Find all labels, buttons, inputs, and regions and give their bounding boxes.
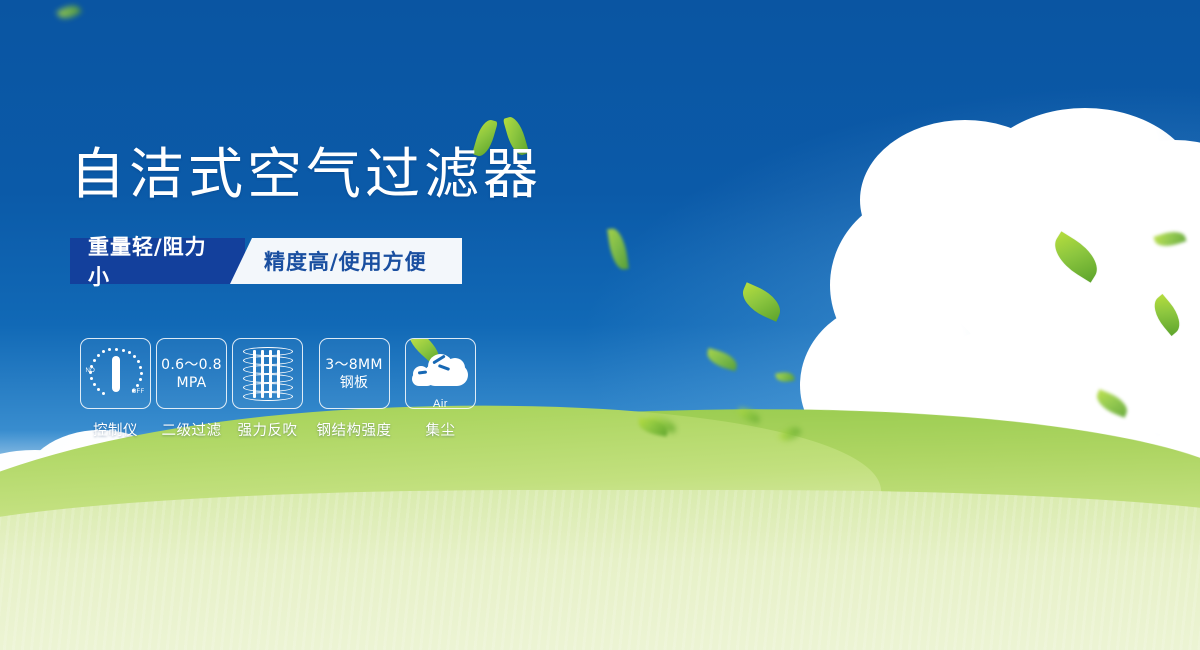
steel-thickness-text-icon: 3～8MM 钢板: [319, 338, 390, 409]
feature-item-steel[interactable]: 3～8MM 钢板 钢结构强度: [306, 338, 402, 440]
feature-item-dust[interactable]: Air 集尘: [403, 338, 478, 440]
subtitle-right-text: 精度高/使用方便: [264, 246, 427, 276]
dial-label-no: NO: [86, 368, 96, 374]
page-title: 自洁式空气过滤器: [70, 143, 542, 205]
filter-stack-icon: [232, 338, 303, 409]
steel-plate-word: 钢板: [325, 374, 382, 392]
grass-field-near: [0, 490, 1200, 650]
feature-item-blowback[interactable]: 强力反吹: [230, 338, 305, 440]
subtitle-right-badge: 精度高/使用方便: [230, 238, 462, 284]
feature-item-pressure[interactable]: 0.6～0.8 MPA 二级过滤: [154, 338, 229, 440]
feature-label: 钢结构强度: [317, 419, 392, 440]
control-dial-icon: NO OFF: [80, 338, 151, 409]
feature-label: 强力反吹: [238, 419, 298, 440]
feature-label: 集尘: [426, 419, 456, 440]
air-label: Air: [412, 398, 470, 410]
air-cloud-icon: Air: [405, 338, 476, 409]
pressure-range-value: 0.6～0.8: [161, 356, 222, 374]
pressure-unit: MPA: [161, 374, 222, 392]
subtitle-left-text: 重量轻/阻力小: [88, 231, 211, 291]
dial-label-off: OFF: [132, 389, 145, 395]
subtitle-left-badge: 重量轻/阻力小: [70, 238, 245, 284]
feature-list: NO OFF 控制仪 0.6～0.8 MPA 二级过滤: [78, 338, 479, 440]
product-banner: 自洁式空气过滤器 重量轻/阻力小 精度高/使用方便: [0, 0, 1200, 650]
feature-label: 二级过滤: [162, 419, 222, 440]
steel-thickness-value: 3～8MM: [325, 356, 382, 374]
pressure-text-icon: 0.6～0.8 MPA: [156, 338, 227, 409]
feature-label: 控制仪: [93, 419, 138, 440]
feature-item-control-dial[interactable]: NO OFF 控制仪: [78, 338, 153, 440]
